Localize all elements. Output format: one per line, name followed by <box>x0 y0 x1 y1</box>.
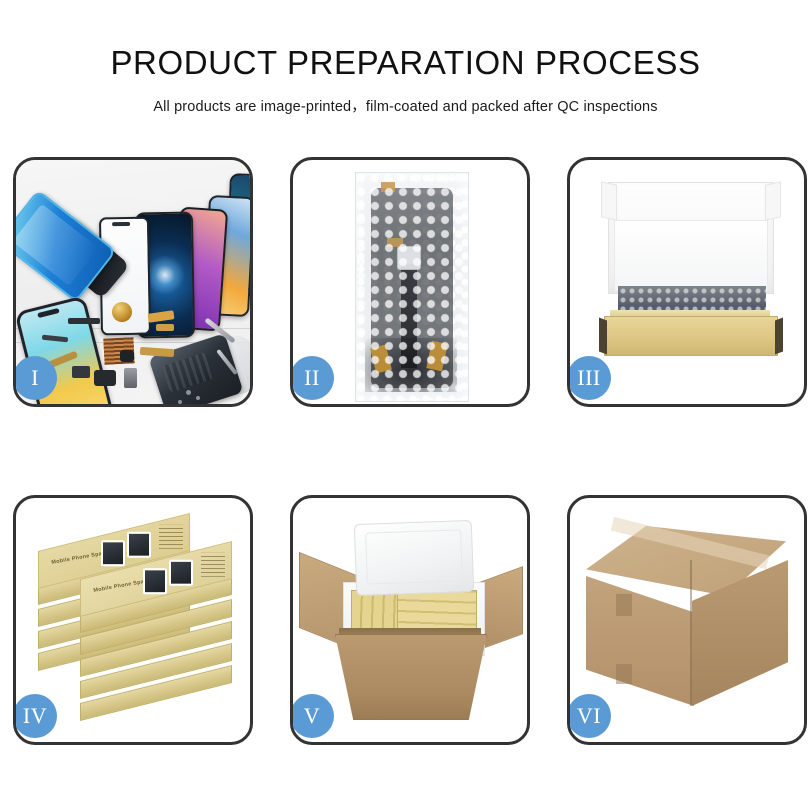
step-panel-2: II <box>290 157 530 407</box>
box-artwork-screen <box>127 532 151 558</box>
tape-strip <box>381 182 395 192</box>
box-front-panel <box>604 316 778 356</box>
carton-tape-patch <box>616 664 632 684</box>
camera-module-part <box>120 350 134 362</box>
step-badge-2: II <box>290 356 334 400</box>
process-steps-grid: I II <box>13 157 798 745</box>
step-badge-5: V <box>290 694 334 738</box>
flex-cable-part <box>156 324 174 331</box>
screw-part <box>186 390 191 395</box>
step-panel-4: Mobile Phone Spare Parts Mobile Phone Sp… <box>13 495 253 745</box>
tape-strip <box>387 238 403 247</box>
vibration-motor-part <box>112 302 132 322</box>
step-panel-3: III <box>567 157 807 407</box>
step-panel-1: I <box>13 157 253 407</box>
step-badge-4: IV <box>13 694 57 738</box>
carton-body <box>335 634 487 720</box>
earpiece-part <box>68 318 100 324</box>
step-badge-3: III <box>567 356 611 400</box>
page-subtitle: All products are image-printed，film-coat… <box>0 82 811 116</box>
speaker-part <box>72 366 90 378</box>
battery-part <box>124 368 137 388</box>
screw-part <box>196 396 200 400</box>
product-preparation-infographic: PRODUCT PREPARATION PROCESS All products… <box>0 0 811 811</box>
carton-left-face <box>586 576 694 706</box>
box-spec-text <box>201 553 225 577</box>
step-badge-6: VI <box>567 694 611 738</box>
carton-edge <box>690 560 692 706</box>
box-artwork-screen <box>169 560 193 586</box>
box-spec-text <box>159 525 183 549</box>
foam-box-lid <box>354 520 474 596</box>
page-title: PRODUCT PREPARATION PROCESS <box>0 0 811 82</box>
step-badge-1: I <box>13 356 57 400</box>
speaker-part <box>94 370 116 386</box>
carton-tape-patch <box>616 594 632 616</box>
box-artwork-screen <box>101 540 125 566</box>
page-header: PRODUCT PREPARATION PROCESS All products… <box>0 0 811 116</box>
step-panel-6: VI <box>567 495 807 745</box>
box-artwork-screen <box>143 568 167 594</box>
step-panel-5: V <box>290 495 530 745</box>
foam-sheet <box>614 220 768 292</box>
connector <box>397 246 421 270</box>
screw-part <box>178 400 182 404</box>
